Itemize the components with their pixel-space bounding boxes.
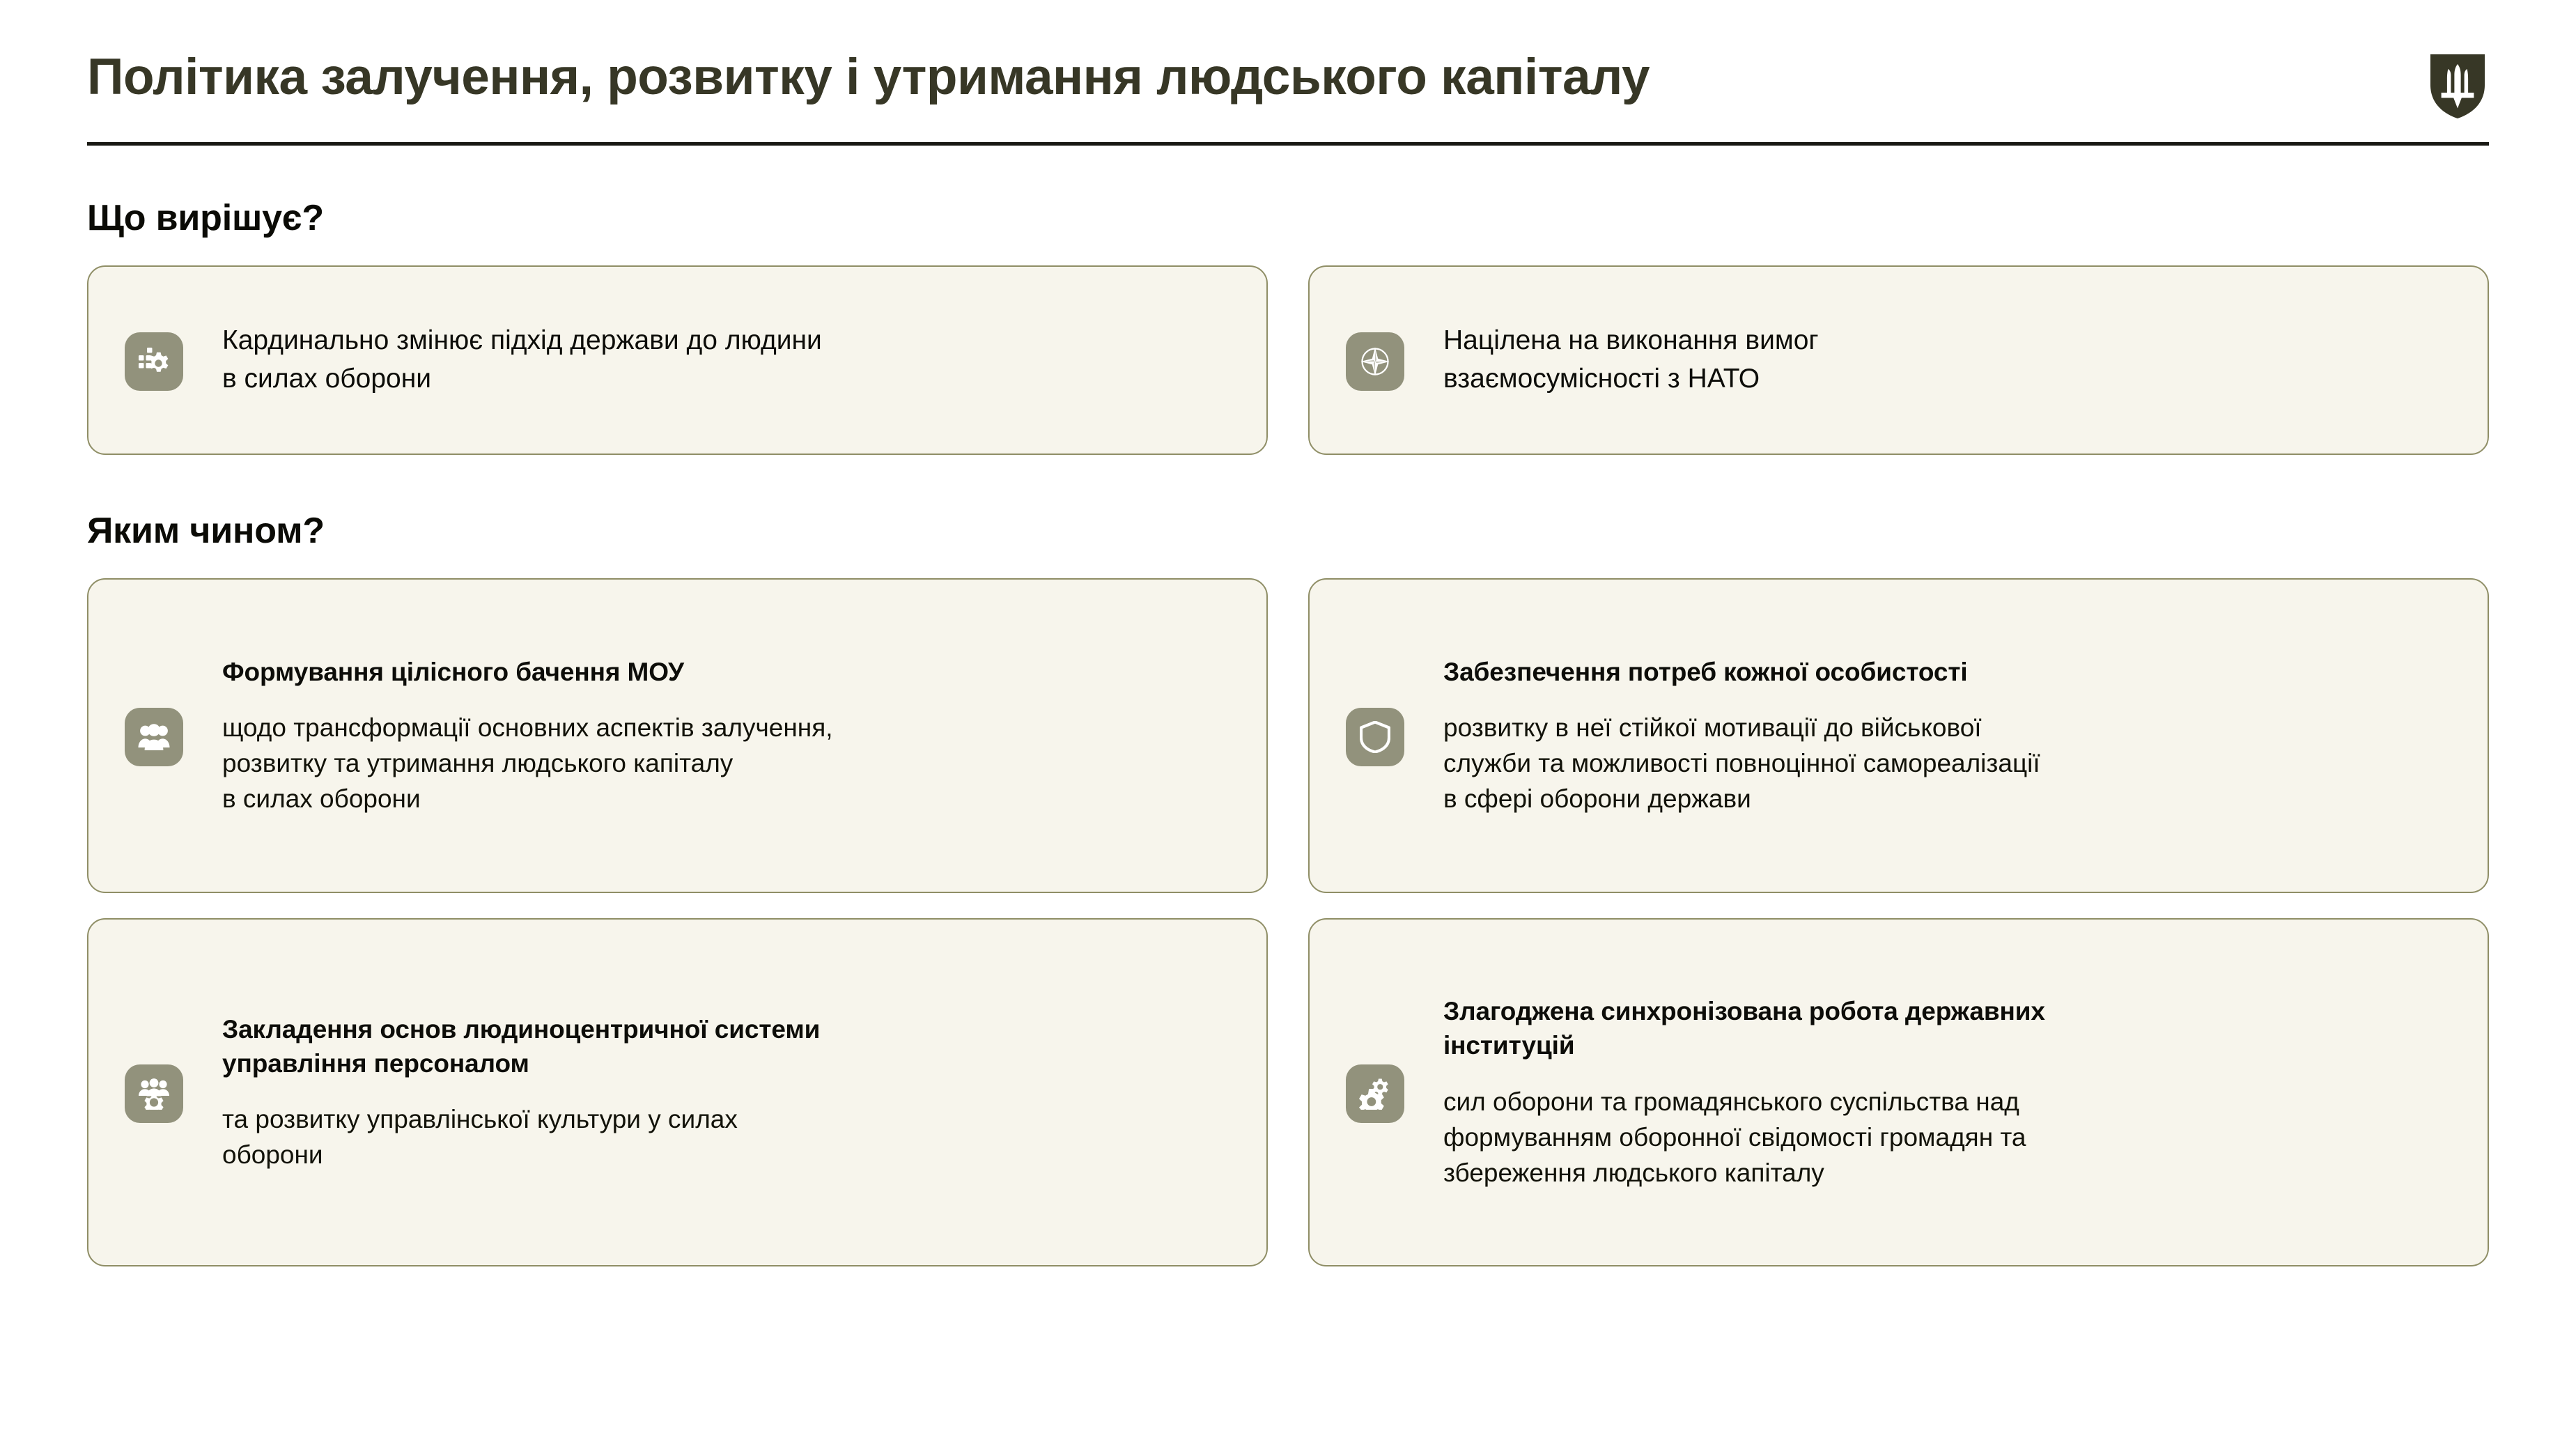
ukrainian-trident-shield-icon xyxy=(2430,54,2485,118)
card-zakladennya-osnov[interactable]: Закладення основ людиноцентричної систем… xyxy=(87,918,1268,1266)
people-gear-hr-icon xyxy=(125,1064,183,1123)
card-body: Націлена на виконання вимогвзаємосумісно… xyxy=(1404,322,2450,398)
card-formuvannya-bachennya[interactable]: Формування цілісного бачення МОУ щодо тр… xyxy=(87,578,1268,893)
card-body: Формування цілісного бачення МОУ щодо тр… xyxy=(183,655,1229,816)
card-title-text: Закладення основ людиноцентричної систем… xyxy=(222,1012,1229,1080)
slide-root: Політика залучення, розвитку і утримання… xyxy=(0,0,2576,1449)
two-gears-icon xyxy=(1346,1064,1404,1123)
card-description-text: сил оборони та громадянського суспільств… xyxy=(1443,1084,2450,1191)
card-body: Закладення основ людиноцентричної систем… xyxy=(183,1012,1229,1173)
section-heading-how: Яким чином? xyxy=(87,513,2489,549)
gear-pixels-icon xyxy=(125,332,183,391)
card-kardynalno-zminyue[interactable]: Кардинально змінює підхід держави до люд… xyxy=(87,265,1268,455)
card-body: Кардинально змінює підхід держави до люд… xyxy=(183,322,1229,398)
card-zlagodzhena-robota[interactable]: Злагоджена синхронізована робота державн… xyxy=(1308,918,2489,1266)
card-description-text: та розвитку управлінської культури у сил… xyxy=(222,1101,1229,1172)
card-grid-section-1: Кардинально змінює підхід держави до люд… xyxy=(87,265,2489,455)
shield-icon xyxy=(1346,708,1404,766)
card-description-text: розвитку в неї стійкої мотивації до війс… xyxy=(1443,710,2450,816)
card-description-text: щодо трансформації основних аспектів зал… xyxy=(222,710,1229,816)
card-title-text: Формування цілісного бачення МОУ xyxy=(222,655,1229,689)
card-body: Злагоджена синхронізована робота державн… xyxy=(1404,994,2450,1191)
card-body: Забезпечення потреб кожної особистості р… xyxy=(1404,655,2450,816)
header-divider xyxy=(87,142,2489,146)
card-grid-section-2: Формування цілісного бачення МОУ щодо тр… xyxy=(87,578,2489,1266)
card-title-text: Злагоджена синхронізована робота державн… xyxy=(1443,994,2450,1062)
card-nato-interoperability[interactable]: Націлена на виконання вимогвзаємосумісно… xyxy=(1308,265,2489,455)
page-title: Політика залучення, розвитку і утримання… xyxy=(87,50,1650,105)
nato-compass-star-icon xyxy=(1346,332,1404,391)
card-lead-text: Кардинально змінює підхід держави до люд… xyxy=(222,322,1229,398)
card-lead-text: Націлена на виконання вимогвзаємосумісно… xyxy=(1443,322,2450,398)
section-heading-what-it-solves: Що вирішує? xyxy=(87,200,2489,236)
users-group-icon xyxy=(125,708,183,766)
card-title-text: Забезпечення потреб кожної особистості xyxy=(1443,655,2450,689)
card-zabezpechennya-potreb[interactable]: Забезпечення потреб кожної особистості р… xyxy=(1308,578,2489,893)
slide-header: Політика залучення, розвитку і утримання… xyxy=(87,0,2489,118)
